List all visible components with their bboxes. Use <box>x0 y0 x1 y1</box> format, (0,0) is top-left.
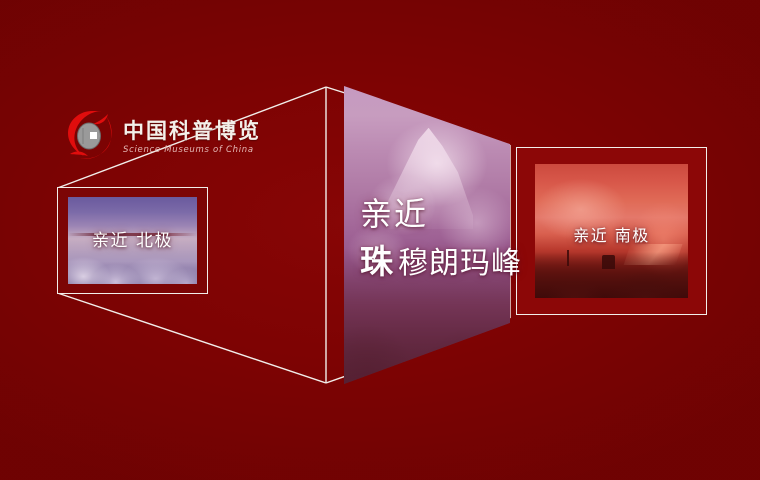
panel-everest-caption-line1: 亲近 <box>360 198 522 230</box>
panel-everest[interactable]: 亲近 珠穆朗玛峰 <box>326 86 510 384</box>
slide-canvas: 中国科普博览 Science Museums of China 亲近 北极 亲近… <box>0 0 760 480</box>
brand-name-cn: 中国科普博览 <box>123 119 261 143</box>
swirl-eye-logo-icon <box>62 108 116 164</box>
antarctic-mast <box>567 250 569 266</box>
panel-everest-caption: 亲近 珠穆朗玛峰 <box>360 198 522 279</box>
brand-text: 中国科普博览 Science Museums of China <box>123 117 261 156</box>
panel-everest-caption-line2: 珠穆朗玛峰 <box>360 245 522 279</box>
panel-arctic-caption: 亲近 北极 <box>57 226 208 251</box>
panel-everest-caption-lead: 珠 <box>360 242 394 281</box>
antarctic-station-hut <box>602 255 615 269</box>
brand-name-en: Science Museums of China <box>123 145 261 155</box>
perspective-line-bottom-left <box>58 293 327 383</box>
panel-antarctic-caption: 亲近 南极 <box>516 222 707 246</box>
panel-everest-caption-rest: 穆朗玛峰 <box>398 246 522 281</box>
brand-logo[interactable]: 中国科普博览 Science Museums of China <box>62 108 261 164</box>
